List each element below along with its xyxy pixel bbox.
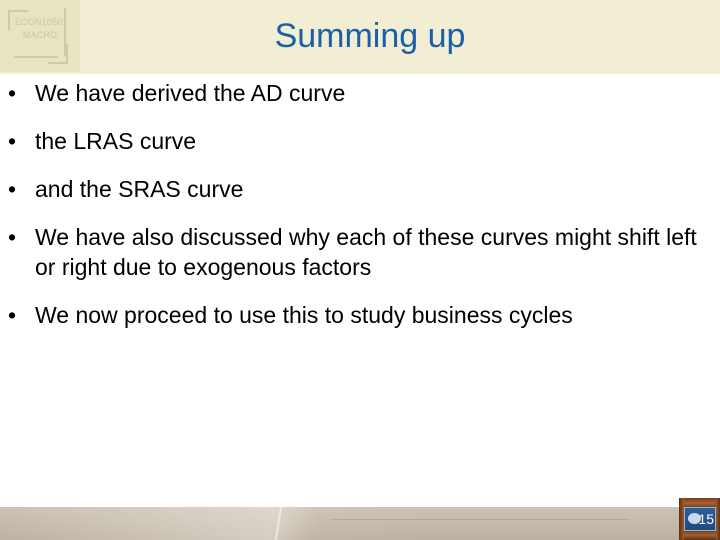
list-item-text: the LRAS curve <box>35 126 712 156</box>
course-logo-text: ECON1050: MACRO <box>0 16 80 42</box>
course-logo-box: ECON1050: MACRO <box>0 0 80 72</box>
list-item-text: We have derived the AD curve <box>35 78 712 108</box>
thumbnail-frame-bottom <box>679 530 720 540</box>
slide-footer-photo-band <box>0 507 720 540</box>
list-item-text: We have also discussed why each of these… <box>35 222 712 282</box>
list-item: • We have derived the AD curve <box>0 78 712 108</box>
list-item: • and the SRAS curve <box>0 174 712 204</box>
bullet-marker-icon: • <box>8 78 24 108</box>
page-title: Summing up <box>100 14 640 58</box>
footer-band-streak <box>330 519 630 520</box>
logo-rule-bottom-icon <box>14 56 58 58</box>
slide-number-thumbnail: 15 <box>679 498 720 540</box>
course-logo-line-2: MACRO <box>0 29 80 42</box>
list-item-text: and the SRAS curve <box>35 174 712 204</box>
slide-number: 15 <box>698 511 714 527</box>
bullet-marker-icon: • <box>8 300 24 330</box>
thumbnail-frame-right <box>716 498 720 540</box>
list-item: • We now proceed to use this to study bu… <box>0 300 712 330</box>
bullet-marker-icon: • <box>8 222 24 252</box>
list-item: • We have also discussed why each of the… <box>0 222 712 282</box>
list-item-text: We now proceed to use this to study busi… <box>35 300 712 330</box>
thumbnail-screen: 15 <box>684 507 716 531</box>
bullet-marker-icon: • <box>8 174 24 204</box>
bullet-list: • We have derived the AD curve • the LRA… <box>0 78 712 348</box>
course-logo-line-1: ECON1050: <box>15 17 65 27</box>
presentation-slide: ECON1050: MACRO Summing up • We have der… <box>0 0 720 540</box>
footer-band-seam <box>275 507 282 540</box>
bullet-marker-icon: • <box>8 126 24 156</box>
list-item: • the LRAS curve <box>0 126 712 156</box>
